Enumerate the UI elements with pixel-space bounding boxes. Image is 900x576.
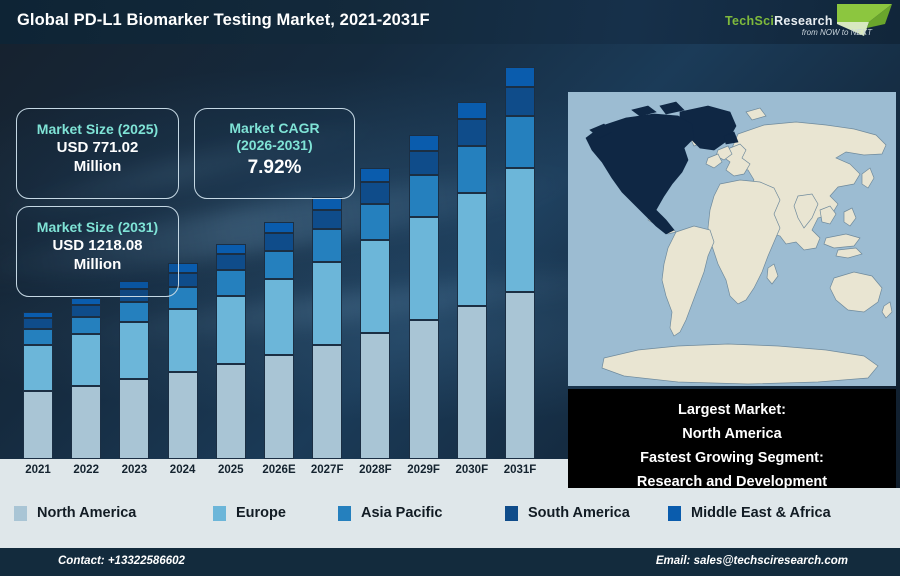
card-2025-value: USD 771.02 xyxy=(17,138,178,157)
bar-segment-europe xyxy=(216,296,246,364)
legend-item-europe[interactable]: Europe xyxy=(213,505,286,521)
bar-segment-north-america xyxy=(457,306,487,459)
bar-segment-europe xyxy=(71,334,101,385)
world-map-svg xyxy=(568,92,896,386)
bar-segment-asia-pacific xyxy=(409,175,439,217)
bar-segment-middle-east-africa xyxy=(409,135,439,151)
bar-segment-north-america xyxy=(409,320,439,459)
bar-segment-middle-east-africa xyxy=(71,298,101,305)
card-2025-heading: Market Size (2025) xyxy=(17,121,178,138)
card-2031-heading: Market Size (2031) xyxy=(17,219,178,236)
bar-segment-europe xyxy=(119,322,149,379)
bar-segment-asia-pacific xyxy=(505,116,535,168)
legend-label: Asia Pacific xyxy=(361,505,442,521)
card-2025-unit: Million xyxy=(17,157,178,176)
bar-stack xyxy=(409,135,439,459)
card-cagr-value: 7.92% xyxy=(195,154,354,181)
bar-stack xyxy=(216,244,246,459)
card-market-size-2025: Market Size (2025) USD 771.02 Million xyxy=(16,108,179,199)
logo-text-research: Research xyxy=(774,14,833,28)
chart-legend: North AmericaEuropeAsia PacificSouth Ame… xyxy=(0,488,900,548)
bar-segment-asia-pacific xyxy=(264,251,294,280)
bar-segment-north-america xyxy=(23,391,53,459)
bar-segment-north-america xyxy=(119,379,149,459)
x-axis-label-2031F: 2031F xyxy=(496,464,544,476)
bar-segment-north-america xyxy=(71,386,101,459)
footer-contact: Contact: +13322586602 xyxy=(58,555,185,567)
bar-segment-middle-east-africa xyxy=(505,67,535,86)
legend-item-north-america[interactable]: North America xyxy=(14,505,136,521)
bar-segment-north-america xyxy=(216,364,246,459)
x-axis-label-2025: 2025 xyxy=(207,464,255,476)
bar-segment-asia-pacific xyxy=(23,329,53,345)
bar-segment-south-america xyxy=(360,182,390,204)
x-axis-label-2028F: 2028F xyxy=(351,464,399,476)
callout-box: Largest Market: North America Fastest Gr… xyxy=(568,389,896,488)
callout-line-1: Largest Market: xyxy=(568,398,896,422)
legend-item-south-america[interactable]: South America xyxy=(505,505,630,521)
footer-email: Email: sales@techsciresearch.com xyxy=(656,555,848,567)
page-title: Global PD-L1 Biomarker Testing Market, 2… xyxy=(17,11,430,30)
card-2031-unit: Million xyxy=(17,255,178,274)
callout-line-4: Research and Development xyxy=(568,470,896,488)
infographic-page: Global PD-L1 Biomarker Testing Market, 2… xyxy=(0,0,900,576)
legend-label: Middle East & Africa xyxy=(691,505,831,521)
bar-stack xyxy=(23,312,53,459)
logo-text: TechSciResearch xyxy=(725,14,833,28)
x-axis: 202120222023202420252026E2027F2028F2029F… xyxy=(0,459,568,488)
legend-item-middle-east-africa[interactable]: Middle East & Africa xyxy=(668,505,831,521)
callout-line-3: Fastest Growing Segment: xyxy=(568,446,896,470)
logo-text-techsci: TechSci xyxy=(725,14,774,28)
x-axis-label-2023: 2023 xyxy=(110,464,158,476)
bar-segment-europe xyxy=(409,217,439,320)
bar-stack xyxy=(360,168,390,459)
bar-segment-north-america xyxy=(360,333,390,459)
header-bar: Global PD-L1 Biomarker Testing Market, 2… xyxy=(0,0,900,44)
callout-line-2: North America xyxy=(568,422,896,446)
legend-label: North America xyxy=(37,505,136,521)
bar-segment-middle-east-africa xyxy=(216,244,246,254)
bar-stack xyxy=(457,102,487,459)
bar-segment-asia-pacific xyxy=(312,229,342,261)
bar-stack xyxy=(71,298,101,459)
bar-segment-middle-east-africa xyxy=(23,312,53,319)
bar-stack xyxy=(505,67,535,459)
legend-item-asia-pacific[interactable]: Asia Pacific xyxy=(338,505,442,521)
bar-segment-europe xyxy=(505,168,535,293)
legend-label: Europe xyxy=(236,505,286,521)
bar-segment-south-america xyxy=(264,233,294,251)
x-axis-label-2027F: 2027F xyxy=(303,464,351,476)
techsci-logo: TechSciResearch from NOW to NEXT xyxy=(719,2,894,42)
legend-swatch xyxy=(14,506,27,521)
x-axis-label-2026E: 2026E xyxy=(255,464,303,476)
footer-bar: Contact: +13322586602 Email: sales@techs… xyxy=(0,548,900,576)
bar-segment-asia-pacific xyxy=(360,204,390,241)
legend-swatch xyxy=(668,506,681,521)
legend-swatch xyxy=(338,506,351,521)
bar-segment-europe xyxy=(168,309,198,371)
bar-segment-south-america xyxy=(71,305,101,317)
bar-segment-south-america xyxy=(312,210,342,230)
bar-segment-middle-east-africa xyxy=(312,197,342,210)
x-axis-label-2029F: 2029F xyxy=(400,464,448,476)
x-axis-label-2022: 2022 xyxy=(62,464,110,476)
bar-segment-europe xyxy=(23,345,53,391)
logo-tagline: from NOW to NEXT xyxy=(802,28,872,37)
bar-stack xyxy=(264,222,294,459)
bar-segment-asia-pacific xyxy=(119,302,149,322)
card-market-size-2031: Market Size (2031) USD 1218.08 Million xyxy=(16,206,179,297)
bar-segment-north-america xyxy=(312,345,342,459)
bar-segment-north-america xyxy=(168,372,198,459)
bar-segment-south-america xyxy=(505,87,535,116)
card-cagr-period: (2026-2031) xyxy=(195,137,354,154)
bar-segment-south-america xyxy=(23,318,53,328)
bar-segment-middle-east-africa xyxy=(360,168,390,182)
bar-segment-north-america xyxy=(264,355,294,459)
bar-segment-north-america xyxy=(505,292,535,459)
x-axis-label-2021: 2021 xyxy=(14,464,62,476)
bar-segment-europe xyxy=(360,240,390,333)
bar-segment-south-america xyxy=(409,151,439,175)
bar-segment-asia-pacific xyxy=(216,270,246,296)
legend-swatch xyxy=(213,506,226,521)
card-cagr-heading: Market CAGR xyxy=(195,120,354,137)
bar-segment-middle-east-africa xyxy=(264,222,294,233)
bar-segment-europe xyxy=(457,193,487,307)
bar-segment-europe xyxy=(312,262,342,346)
card-2031-value: USD 1218.08 xyxy=(17,236,178,255)
x-axis-label-2030F: 2030F xyxy=(448,464,496,476)
bar-segment-south-america xyxy=(216,254,246,270)
bar-segment-middle-east-africa xyxy=(457,102,487,119)
legend-label: South America xyxy=(528,505,630,521)
legend-swatch xyxy=(505,506,518,521)
bar-segment-south-america xyxy=(457,119,487,146)
bar-segment-asia-pacific xyxy=(457,146,487,192)
bar-stack xyxy=(119,281,149,459)
main-canvas: 202120222023202420252026E2027F2028F2029F… xyxy=(0,44,900,488)
card-market-cagr: Market CAGR (2026-2031) 7.92% xyxy=(194,108,355,199)
world-map xyxy=(568,92,896,386)
bar-segment-asia-pacific xyxy=(71,317,101,335)
bar-stack xyxy=(312,197,342,459)
bar-segment-europe xyxy=(264,279,294,355)
x-axis-label-2024: 2024 xyxy=(159,464,207,476)
